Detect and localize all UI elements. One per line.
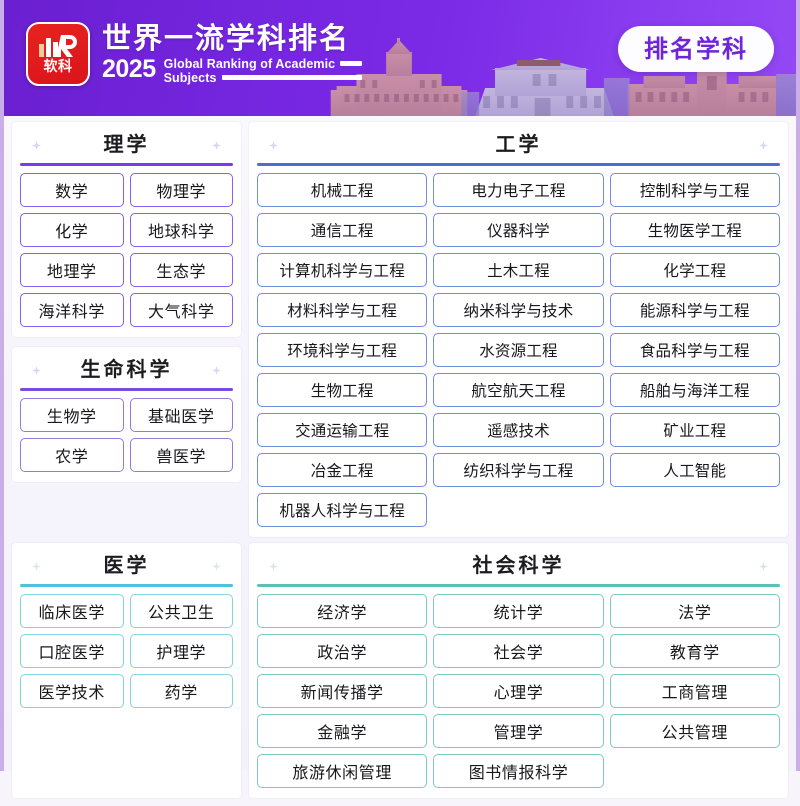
subject-sections-grid: 理学 数学 物理学 化学 地球科学 地理学 生态学 海洋科学 大气科学	[4, 116, 796, 806]
subject-tile[interactable]: 经济学	[257, 594, 427, 628]
page-title-english: Global Ranking of Academic Subjects	[164, 57, 363, 85]
brand-lockup: 软科 世界一流学科排名 2025 Global Ranking of Acade…	[26, 22, 362, 86]
page-header: 软科 世界一流学科排名 2025 Global Ranking of Acade…	[4, 0, 796, 116]
subject-tile[interactable]: 公共卫生	[130, 594, 234, 628]
subject-tile[interactable]: 航空航天工程	[433, 373, 603, 407]
title-en-line2: Subjects	[164, 71, 217, 85]
title-en-line1: Global Ranking of Academic	[164, 57, 336, 71]
subject-tile[interactable]: 大气科学	[130, 293, 234, 327]
subject-tile[interactable]: 生物医学工程	[610, 213, 780, 247]
subject-tile-list-social-science: 经济学 统计学 法学 政治学 社会学 教育学 新闻传播学 心理学 工商管理 金融…	[257, 594, 780, 788]
subject-tile[interactable]: 机器人科学与工程	[257, 493, 427, 527]
sparkle-icon	[759, 562, 768, 571]
sparkle-icon	[269, 141, 278, 150]
subject-tile-list-engineering: 机械工程 电力电子工程 控制科学与工程 通信工程 仪器科学 生物医学工程 计算机…	[257, 173, 780, 527]
header-title-block: 世界一流学科排名 2025 Global Ranking of Academic…	[102, 23, 362, 84]
ranked-subjects-badge[interactable]: 排名学科	[618, 26, 774, 72]
subject-tile[interactable]: 人工智能	[610, 453, 780, 487]
section-divider	[20, 388, 233, 391]
subject-tile[interactable]: 统计学	[433, 594, 603, 628]
section-card-life-science: 生命科学 生物学 基础医学 农学 兽医学	[12, 347, 241, 482]
subject-tile[interactable]: 数学	[20, 173, 124, 207]
ranking-subjects-page: 软科 世界一流学科排名 2025 Global Ranking of Acade…	[0, 0, 800, 771]
subject-tile[interactable]: 纳米科学与技术	[433, 293, 603, 327]
subject-tile[interactable]: 土木工程	[433, 253, 603, 287]
subject-tile[interactable]: 环境科学与工程	[257, 333, 427, 367]
subject-tile[interactable]: 交通运输工程	[257, 413, 427, 447]
sparkle-icon	[212, 366, 221, 375]
subject-tile[interactable]: 医学技术	[20, 674, 124, 708]
section-title-science: 理学	[104, 133, 150, 155]
left-column: 理学 数学 物理学 化学 地球科学 地理学 生态学 海洋科学 大气科学	[12, 122, 241, 537]
sparkle-icon	[212, 141, 221, 150]
section-title-engineering: 工学	[496, 133, 542, 155]
subject-tile[interactable]: 遥感技术	[433, 413, 603, 447]
subject-tile-list-medicine: 临床医学 公共卫生 口腔医学 护理学 医学技术 药学	[20, 594, 233, 708]
section-card-engineering: 工学 机械工程 电力电子工程 控制科学与工程 通信工程 仪器科学 生物医学工程 …	[249, 122, 788, 537]
section-header-social-science: 社会科学	[257, 549, 780, 584]
section-divider	[257, 163, 780, 166]
subject-tile[interactable]: 兽医学	[130, 438, 234, 472]
subject-tile[interactable]: 机械工程	[257, 173, 427, 207]
subject-tile[interactable]: 生态学	[130, 253, 234, 287]
subject-tile[interactable]: 教育学	[610, 634, 780, 668]
subject-tile[interactable]: 农学	[20, 438, 124, 472]
sparkle-icon	[32, 141, 41, 150]
section-divider	[20, 163, 233, 166]
title-rule-icon	[340, 61, 362, 66]
subject-tile[interactable]: 物理学	[130, 173, 234, 207]
subject-tile[interactable]: 地理学	[20, 253, 124, 287]
subject-tile[interactable]: 海洋科学	[20, 293, 124, 327]
subject-tile[interactable]: 船舶与海洋工程	[610, 373, 780, 407]
subject-tile[interactable]: 冶金工程	[257, 453, 427, 487]
subject-tile[interactable]: 政治学	[257, 634, 427, 668]
subject-tile[interactable]: 生物工程	[257, 373, 427, 407]
section-title-social-science: 社会科学	[473, 554, 565, 576]
subject-tile[interactable]: 地球科学	[130, 213, 234, 247]
subject-tile[interactable]: 计算机科学与工程	[257, 253, 427, 287]
page-title: 世界一流学科排名	[102, 23, 362, 53]
shanghairanking-logo-icon: 软科	[26, 22, 90, 86]
subject-tile[interactable]: 基础医学	[130, 398, 234, 432]
subject-tile[interactable]: 化学工程	[610, 253, 780, 287]
subject-tile[interactable]: 生物学	[20, 398, 124, 432]
subject-tile[interactable]: 通信工程	[257, 213, 427, 247]
sparkle-icon	[212, 562, 221, 571]
subject-tile[interactable]: 控制科学与工程	[610, 173, 780, 207]
subject-tile[interactable]: 口腔医学	[20, 634, 124, 668]
section-card-social-science: 社会科学 经济学 统计学 法学 政治学 社会学 教育学 新闻传播学 心理学 工商…	[249, 543, 788, 798]
subject-tile[interactable]: 公共管理	[610, 714, 780, 748]
section-title-medicine: 医学	[104, 554, 150, 576]
section-card-science: 理学 数学 物理学 化学 地球科学 地理学 生态学 海洋科学 大气科学	[12, 122, 241, 337]
section-divider	[257, 584, 780, 587]
subject-tile[interactable]: 纺织科学与工程	[433, 453, 603, 487]
subject-tile[interactable]: 食品科学与工程	[610, 333, 780, 367]
subject-tile[interactable]: 仪器科学	[433, 213, 603, 247]
subject-tile[interactable]: 工商管理	[610, 674, 780, 708]
sparkle-icon	[759, 141, 768, 150]
section-header-medicine: 医学	[20, 549, 233, 584]
edition-year: 2025	[102, 57, 156, 82]
subject-tile[interactable]: 水资源工程	[433, 333, 603, 367]
section-divider	[20, 584, 233, 587]
sparkle-icon	[269, 562, 278, 571]
subject-tile[interactable]: 化学	[20, 213, 124, 247]
subject-tile[interactable]: 材料科学与工程	[257, 293, 427, 327]
subject-tile[interactable]: 管理学	[433, 714, 603, 748]
subject-tile[interactable]: 心理学	[433, 674, 603, 708]
section-header-science: 理学	[20, 128, 233, 163]
subject-tile[interactable]: 法学	[610, 594, 780, 628]
section-header-engineering: 工学	[257, 128, 780, 163]
subject-tile[interactable]: 矿业工程	[610, 413, 780, 447]
ranked-subjects-badge-label: 排名学科	[644, 35, 748, 63]
subject-tile-list-life-science: 生物学 基础医学 农学 兽医学	[20, 398, 233, 472]
section-header-life-science: 生命科学	[20, 353, 233, 388]
subject-tile[interactable]: 新闻传播学	[257, 674, 427, 708]
subject-tile[interactable]: 护理学	[130, 634, 234, 668]
subject-tile[interactable]: 药学	[130, 674, 234, 708]
subject-tile[interactable]: 旅游休闲管理	[257, 754, 427, 788]
section-title-life-science: 生命科学	[81, 358, 173, 380]
subject-tile[interactable]: 能源科学与工程	[610, 293, 780, 327]
subject-tile[interactable]: 金融学	[257, 714, 427, 748]
subject-tile[interactable]: 临床医学	[20, 594, 124, 628]
subject-tile[interactable]: 图书情报科学	[433, 754, 603, 788]
subject-tile[interactable]: 社会学	[433, 634, 603, 668]
section-card-medicine: 医学 临床医学 公共卫生 口腔医学 护理学 医学技术 药学	[12, 543, 241, 798]
subject-tile[interactable]: 电力电子工程	[433, 173, 603, 207]
title-rule-long-icon	[222, 75, 363, 80]
subject-tile-list-science: 数学 物理学 化学 地球科学 地理学 生态学 海洋科学 大气科学	[20, 173, 233, 327]
logo-wordmark: 软科	[44, 60, 73, 74]
sparkle-icon	[32, 562, 41, 571]
sparkle-icon	[32, 366, 41, 375]
